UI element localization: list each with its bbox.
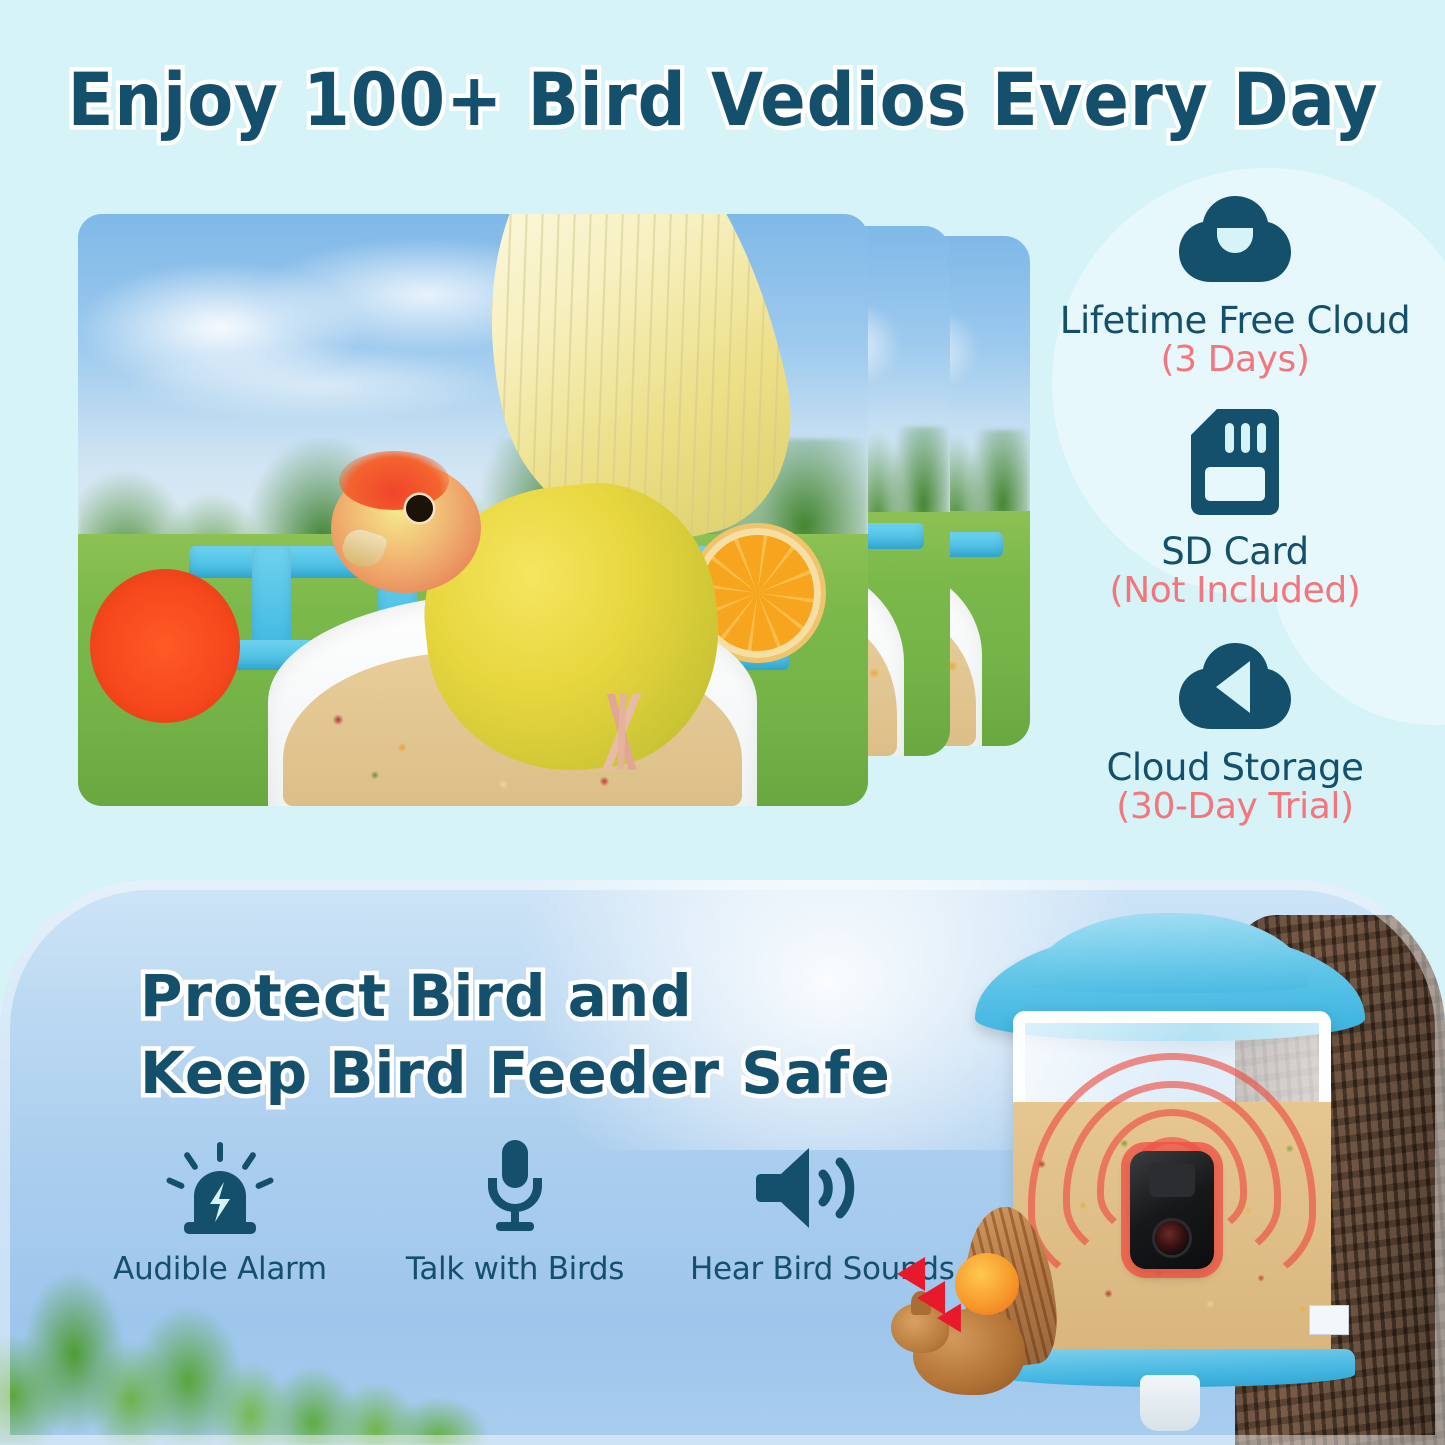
bottom-panel: Protect Bird and Keep Bird Feeder Safe [0,880,1445,1445]
cloud-playback-icon [1035,637,1435,738]
feature-subtitle: (30-Day Trial) [1035,787,1435,827]
lovebird-photo [78,214,868,806]
alarm-light [955,1253,1019,1315]
camera-lens [1155,1221,1189,1255]
alarm-indicator [897,1247,1017,1327]
feature-cloud-storage: Cloud Storage (30-Day Trial) [1035,637,1435,828]
camera-module [1130,1151,1214,1269]
cloud-feature-list: Lifetime Free Cloud (3 Days) SD Card (No… [1035,190,1435,854]
alarm-triangle-3 [937,1304,961,1333]
feeder-toy-flower [121,602,208,691]
bottom-title-line2: Keep Bird Feeder Safe [140,1035,891,1112]
cloud-smile-icon [1035,190,1435,291]
camera-sensor-panel [1149,1163,1195,1197]
bottom-section-title: Protect Bird and Keep Bird Feeder Safe [140,958,891,1111]
sd-card-icon [1035,407,1435,522]
lovebird-crown [339,451,450,510]
smart-bird-feeder [945,915,1445,1445]
page-title: Enjoy 100+ Bird Vedios Every Day [67,58,1378,143]
lovebird-eye [406,495,433,522]
feature-title: Lifetime Free Cloud [1035,301,1435,340]
speaker-waves-icon [690,1142,930,1239]
top-section: Enjoy 100+ Bird Vedios Every Day [0,0,1445,890]
feature-label: Hear Bird Sounds [690,1251,930,1287]
lovebird-feet [568,694,679,771]
feature-title: SD Card [1035,532,1435,571]
feature-sd-card: SD Card (Not Included) [1035,407,1435,612]
feeder-rating-label [1309,1305,1349,1335]
feature-hear-bird-sounds: Hear Bird Sounds [690,1142,930,1287]
microphone-icon [395,1138,635,1239]
feature-title: Cloud Storage [1035,748,1435,787]
bottom-title-line1: Protect Bird and [140,958,891,1035]
feature-subtitle: (Not Included) [1035,571,1435,611]
feeder-mount-post [1140,1375,1200,1431]
tree-foliage [0,1255,490,1445]
photo-scene [78,214,868,806]
siren-alarm-icon [100,1142,340,1239]
feature-subtitle: (3 Days) [1035,340,1435,380]
bottom-section: Protect Bird and Keep Bird Feeder Safe [0,880,1445,1445]
feature-lifetime-free-cloud: Lifetime Free Cloud (3 Days) [1035,190,1435,381]
